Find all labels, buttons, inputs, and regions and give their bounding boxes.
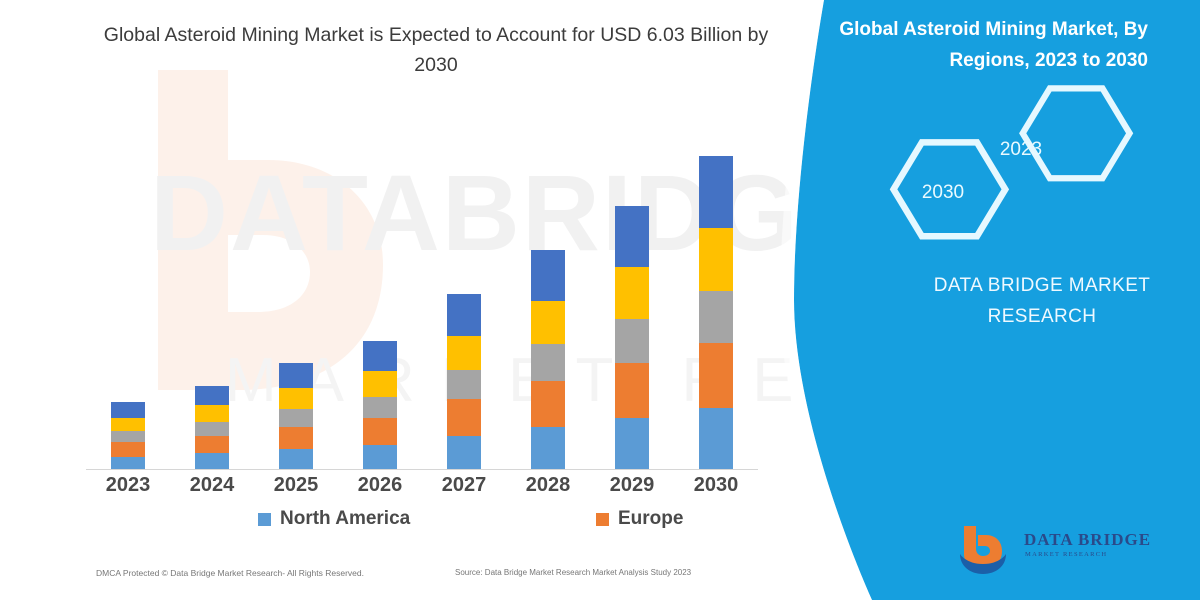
bar-segment-asia-pacific	[279, 409, 313, 427]
bar-segment-north-america	[699, 408, 733, 469]
bar-group	[678, 156, 754, 469]
legend-label: Europe	[618, 508, 683, 530]
x-axis-label-2028: 2028	[510, 474, 586, 497]
bar-group	[258, 363, 334, 469]
bar-segment-middle-east-africa	[615, 267, 649, 319]
brand-name: DATA BRIDGE MARKET RESEARCH	[892, 270, 1192, 332]
brand-panel: Global Asteroid Mining Market, By Region…	[780, 0, 1200, 600]
brand-line-2: RESEARCH	[988, 306, 1097, 327]
x-axis-label-2030: 2030	[678, 474, 754, 497]
x-axis-label-2024: 2024	[174, 474, 250, 497]
stacked-bar	[111, 402, 145, 469]
logo-name: DATA BRIDGE	[1024, 530, 1151, 550]
bar-group	[510, 250, 586, 469]
infographic-canvas: DATABRIDGE MARKET RESEARCH Global Astero…	[0, 0, 1200, 600]
bar-segment-middle-east-africa	[447, 336, 481, 370]
stacked-bar	[195, 386, 229, 469]
brand-line-1: DATA BRIDGE MARKET	[934, 275, 1151, 296]
stacked-bar	[531, 250, 565, 469]
legend-swatch-icon	[596, 513, 609, 526]
bar-segment-asia-pacific	[447, 370, 481, 399]
legend-swatch-icon	[258, 513, 271, 526]
bar-segment-middle-east-africa	[195, 405, 229, 422]
company-logo: DATA BRIDGE MARKET RESEARCH	[952, 522, 1182, 578]
footer-source: Source: Data Bridge Market Research Mark…	[455, 568, 691, 577]
hexagon-label-2023: 2023	[976, 139, 1066, 161]
x-axis-label-2029: 2029	[594, 474, 670, 497]
bar-segment-asia-pacific	[699, 291, 733, 344]
bar-segment-europe	[699, 343, 733, 407]
stacked-bar	[615, 206, 649, 469]
bar-group	[342, 341, 418, 469]
bar-segment-north-america	[111, 457, 145, 469]
chart-legend: North AmericaEurope	[86, 508, 766, 548]
legend-item-north-america[interactable]: North America	[258, 508, 410, 530]
bar-segment-south-america	[615, 206, 649, 267]
bar-segment-europe	[615, 363, 649, 417]
stacked-bar	[447, 294, 481, 469]
bar-segment-south-america	[111, 402, 145, 418]
stacked-bar	[699, 156, 733, 469]
logo-subtitle: MARKET RESEARCH	[1025, 551, 1107, 558]
logo-mark-icon	[954, 524, 1020, 576]
bar-segment-europe	[531, 381, 565, 427]
bar-segment-south-america	[447, 294, 481, 335]
bar-segment-middle-east-africa	[699, 228, 733, 290]
stacked-bar	[279, 363, 313, 469]
bar-segment-asia-pacific	[531, 344, 565, 381]
bar-group	[90, 402, 166, 469]
x-axis-label-2027: 2027	[426, 474, 502, 497]
stacked-bar	[363, 341, 397, 469]
bar-segment-north-america	[615, 418, 649, 469]
chart-title: Global Asteroid Mining Market is Expecte…	[86, 20, 786, 80]
bar-group	[174, 386, 250, 469]
bar-segment-south-america	[531, 250, 565, 301]
bar-segment-asia-pacific	[615, 319, 649, 363]
bar-segment-middle-east-africa	[363, 371, 397, 397]
bar-segment-north-america	[195, 453, 229, 469]
bar-segment-north-america	[363, 445, 397, 469]
bar-segment-south-america	[195, 386, 229, 405]
x-axis-label-2025: 2025	[258, 474, 334, 497]
bar-segment-europe	[447, 399, 481, 436]
bar-segment-europe	[363, 418, 397, 445]
x-axis-labels: 20232024202520262027202820292030	[86, 474, 758, 504]
panel-title: Global Asteroid Mining Market, By Region…	[780, 14, 1170, 76]
bar-segment-europe	[195, 436, 229, 454]
stacked-bars	[86, 120, 758, 469]
bar-segment-south-america	[363, 341, 397, 371]
footer-copyright: DMCA Protected © Data Bridge Market Rese…	[96, 568, 364, 578]
bar-segment-asia-pacific	[363, 397, 397, 418]
x-axis-line	[86, 469, 758, 470]
chart-plot-area	[86, 120, 766, 470]
bar-group	[426, 294, 502, 469]
bar-segment-north-america	[447, 436, 481, 469]
bar-segment-europe	[279, 427, 313, 449]
legend-item-europe[interactable]: Europe	[596, 508, 683, 530]
bar-segment-europe	[111, 442, 145, 456]
bar-segment-south-america	[279, 363, 313, 387]
x-axis-label-2026: 2026	[342, 474, 418, 497]
hexagon-label-2030: 2030	[898, 182, 988, 204]
bar-segment-asia-pacific	[195, 422, 229, 436]
bar-group	[594, 206, 670, 469]
bar-segment-middle-east-africa	[279, 388, 313, 409]
legend-label: North America	[280, 508, 410, 530]
bar-segment-middle-east-africa	[531, 301, 565, 344]
footer: DMCA Protected © Data Bridge Market Rese…	[0, 564, 800, 600]
bar-segment-south-america	[699, 156, 733, 228]
bar-segment-asia-pacific	[111, 431, 145, 442]
bar-segment-north-america	[279, 449, 313, 469]
bar-segment-middle-east-africa	[111, 418, 145, 431]
bar-segment-north-america	[531, 427, 565, 469]
x-axis-label-2023: 2023	[90, 474, 166, 497]
